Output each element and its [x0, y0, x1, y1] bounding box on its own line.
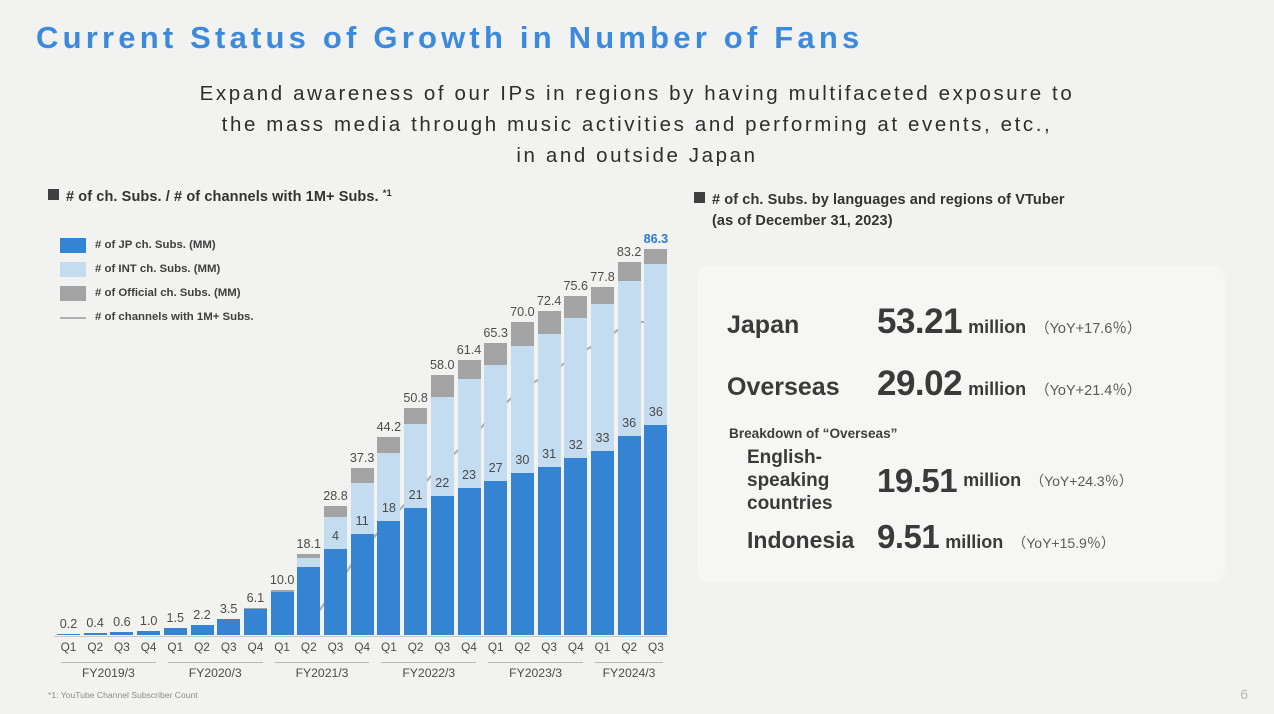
footnote: *1: YouTube Channel Subscriber Count [48, 690, 198, 700]
chart-x-axis: Q1Q2Q3Q4Q1Q2Q3Q4Q1Q2Q3Q4Q1Q2Q3Q4Q1Q2Q3Q4… [40, 636, 670, 684]
axis-fiscal-year-group: FY2023/3 [484, 662, 587, 684]
bar-inner-label: 36 [618, 416, 641, 430]
fiscal-year-label: FY2024/3 [591, 666, 667, 680]
bar-inner-label: 31 [538, 447, 561, 461]
fiscal-year-underline [61, 662, 156, 663]
axis-quarter-tick: Q3 [217, 640, 240, 654]
axis-quarter-tick: Q4 [351, 640, 374, 654]
bar-segment-jp [431, 496, 454, 635]
axis-fiscal-year-group: FY2024/3 [591, 662, 667, 684]
fiscal-year-label: FY2020/3 [164, 666, 267, 680]
bar-segment-jp [404, 508, 427, 635]
stat-unit-indonesia: million [945, 532, 1003, 553]
axis-quarter-tick: Q4 [137, 640, 160, 654]
axis-quarter-tick: Q3 [644, 640, 667, 654]
bar-segment-int [644, 264, 667, 424]
bullet-square-icon [48, 189, 59, 200]
bar-inner-label: 18 [377, 501, 400, 515]
fiscal-year-underline [488, 662, 583, 663]
bar-segment-int [564, 318, 587, 459]
bar-segment-jp [297, 567, 320, 635]
bar-inner-label: 4 [324, 529, 347, 543]
bar-segment-jp [324, 549, 347, 635]
stat-label-english-speaking: English-speaking countries [747, 446, 877, 515]
bar-segment-jp [458, 488, 481, 635]
bar-segment-official [538, 311, 561, 334]
bar-segment-jp [564, 458, 587, 635]
fiscal-year-underline [275, 662, 370, 663]
axis-fiscal-year-group: FY2019/3 [57, 662, 160, 684]
axis-quarter-tick: Q2 [297, 640, 320, 654]
bar-segment-official [644, 249, 667, 265]
bar-segment-official [511, 322, 534, 347]
page-title: Current Status of Growth in Number of Fa… [36, 20, 863, 56]
stat-label-indonesia: Indonesia [747, 527, 877, 554]
bar-segment-official [324, 506, 347, 517]
bar-inner-label: 30 [511, 453, 534, 467]
bar-segment-official [458, 360, 481, 379]
stat-value-overseas: 29.02 [877, 364, 962, 404]
axis-quarter-tick: Q2 [191, 640, 214, 654]
axis-quarter-tick: Q4 [244, 640, 267, 654]
right-panel-heading-line1: # of ch. Subs. by languages and regions … [712, 192, 1065, 208]
bar-total-label: 86.3 [633, 232, 679, 246]
subtitle-line-2: the mass media through music activities … [40, 109, 1234, 140]
bar-segment-official [377, 437, 400, 453]
bar-segment-jp [84, 633, 107, 635]
bar-inner-label: 33 [591, 431, 614, 445]
axis-fiscal-year-group: FY2020/3 [164, 662, 267, 684]
bar-segment-official [618, 262, 641, 280]
stat-row-japan: Japan 53.21 million （YoY+17.6％） [727, 302, 1141, 342]
fiscal-year-label: FY2023/3 [484, 666, 587, 680]
axis-fiscal-year-group: FY2021/3 [271, 662, 374, 684]
fiscal-year-underline [595, 662, 663, 663]
fiscal-year-label: FY2022/3 [377, 666, 480, 680]
axis-quarter-tick: Q1 [377, 640, 400, 654]
axis-quarter-tick: Q1 [57, 640, 80, 654]
stat-yoy-japan: （YoY+17.6％） [1035, 317, 1141, 338]
bar-segment-jp [511, 473, 534, 635]
stat-unit-japan: million [968, 317, 1026, 338]
bar-segment-jp [271, 592, 294, 635]
fiscal-year-underline [168, 662, 263, 663]
bar-segment-official [591, 287, 614, 304]
bar-segment-official [351, 468, 374, 483]
axis-quarter-tick: Q2 [84, 640, 107, 654]
bar-segment-official [271, 590, 294, 592]
bar-inner-label: 21 [404, 488, 427, 502]
fiscal-year-label: FY2021/3 [271, 666, 374, 680]
bar-inner-label: 36 [644, 405, 667, 419]
axis-quarter-tick: Q2 [511, 640, 534, 654]
bar-segment-jp [618, 436, 641, 635]
axis-quarter-tick: Q1 [271, 640, 294, 654]
subtitle-line-3: in and outside Japan [40, 140, 1234, 171]
bar-segment-jp [644, 425, 667, 635]
axis-quarter-tick: Q2 [618, 640, 641, 654]
bar-segment-official [297, 554, 320, 558]
bullet-square-icon-right [694, 192, 705, 203]
bar-segment-jp [191, 625, 214, 635]
page-number: 6 [1240, 686, 1248, 702]
chart-plot-area: 0.20.40.61.01.52.23.56.110.018.1428.8113… [54, 205, 668, 635]
axis-quarter-tick: Q2 [404, 640, 427, 654]
breakdown-label: Breakdown of “Overseas” [729, 426, 897, 441]
stat-value-indonesia: 9.51 [877, 518, 939, 556]
axis-quarter-tick: Q4 [564, 640, 587, 654]
bar-segment-jp [351, 534, 374, 635]
bar-segment-int [297, 558, 320, 567]
right-panel-heading: # of ch. Subs. by languages and regions … [694, 190, 1065, 232]
bar-segment-jp [377, 521, 400, 635]
page-subtitle: Expand awareness of our IPs in regions b… [0, 78, 1274, 171]
bar-segment-jp [217, 619, 240, 635]
bar-segment-official [404, 408, 427, 424]
bar-inner-label: 32 [564, 438, 587, 452]
stat-value-japan: 53.21 [877, 302, 962, 342]
fiscal-year-underline [381, 662, 476, 663]
subtitle-line-1: Expand awareness of our IPs in regions b… [40, 78, 1234, 109]
stat-label-overseas: Overseas [727, 373, 877, 402]
stat-row-indonesia: Indonesia 9.51 million （YoY+15.9％） [747, 518, 1115, 556]
bar-segment-int [618, 281, 641, 436]
stat-label-japan: Japan [727, 311, 877, 340]
stat-unit-english-speaking: million [963, 470, 1021, 491]
stat-unit-overseas: million [968, 379, 1026, 400]
bar-segment-official [484, 343, 507, 365]
fiscal-year-label: FY2019/3 [57, 666, 160, 680]
axis-quarter-tick: Q1 [484, 640, 507, 654]
bar-segment-jp [164, 628, 187, 635]
axis-fiscal-year-group: FY2022/3 [377, 662, 480, 684]
axis-quarter-tick: Q3 [538, 640, 561, 654]
axis-quarter-tick: Q3 [110, 640, 133, 654]
bar-segment-jp [591, 451, 614, 636]
right-panel-heading-line2: (as of December 31, 2023) [712, 211, 1065, 232]
bar-segment-jp [484, 481, 507, 635]
bar-segment-int [591, 304, 614, 450]
left-panel-heading-superscript: *1 [383, 188, 392, 199]
regional-subscribers-card: Japan 53.21 million （YoY+17.6％） Overseas… [697, 266, 1225, 582]
stat-row-overseas: Overseas 29.02 million （YoY+21.4％） [727, 364, 1141, 404]
bar-segment-jp [110, 632, 133, 635]
bar-segment-jp [57, 634, 80, 635]
bar-inner-label: 23 [458, 468, 481, 482]
axis-quarter-tick: Q1 [164, 640, 187, 654]
axis-quarter-tick: Q4 [458, 640, 481, 654]
stat-yoy-indonesia: （YoY+15.9％） [1012, 533, 1115, 553]
axis-baseline [54, 636, 668, 637]
bar-segment-jp [538, 467, 561, 635]
stat-yoy-overseas: （YoY+21.4％） [1035, 379, 1141, 400]
bar-inner-label: 27 [484, 461, 507, 475]
left-panel-heading-text: # of ch. Subs. / # of channels with 1M+ … [66, 189, 379, 205]
bar-inner-label: 22 [431, 476, 454, 490]
bar-segment-jp [137, 631, 160, 635]
axis-quarter-tick: Q3 [431, 640, 454, 654]
axis-quarter-tick: Q1 [591, 640, 614, 654]
bar-segment-jp [244, 608, 267, 635]
axis-quarter-tick: Q3 [324, 640, 347, 654]
stat-value-english-speaking: 19.51 [877, 462, 957, 500]
stat-row-english-speaking: English-speaking countries 19.51 million… [747, 446, 1133, 515]
bar-segment-official [431, 375, 454, 396]
left-panel-heading: # of ch. Subs. / # of channels with 1M+ … [48, 188, 392, 205]
subscriber-growth-chart: # of JP ch. Subs. (MM) # of INT ch. Subs… [40, 205, 670, 635]
stat-yoy-english-speaking: （YoY+24.3％） [1030, 471, 1133, 491]
bar-segment-official [564, 296, 587, 317]
bar-inner-label: 11 [351, 514, 374, 528]
slide: Current Status of Growth in Number of Fa… [0, 0, 1274, 714]
